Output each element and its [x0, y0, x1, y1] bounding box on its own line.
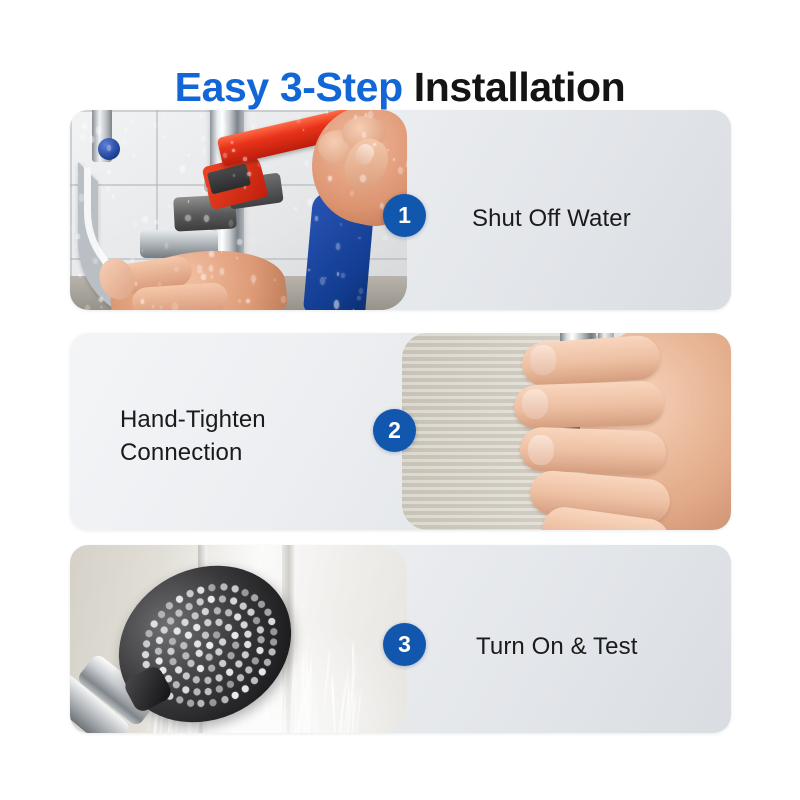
fingernail-3: [528, 435, 554, 465]
step-card-3: 3 Turn On & Test: [70, 545, 731, 733]
step-2-label-line-1: Hand-Tighten: [120, 403, 350, 436]
step-badge-3: 3: [383, 623, 426, 666]
page-title-rest: Installation: [403, 64, 626, 110]
page-title: Easy 3-Step Installation: [0, 65, 800, 110]
step-badge-3-number: 3: [398, 633, 411, 656]
step-1-image: [70, 110, 407, 310]
step-badge-1: 1: [383, 194, 426, 237]
fingernail-1: [530, 345, 556, 375]
step-card-2: Hand-Tighten Connection 2: [70, 333, 731, 530]
step-2-label-line-2: Connection: [120, 436, 350, 469]
step-badge-1-number: 1: [398, 204, 411, 227]
step-badge-2: 2: [373, 409, 416, 452]
step-2-label: Hand-Tighten Connection: [120, 403, 350, 469]
installation-steps-infographic: Easy 3-Step Installation: [0, 0, 800, 800]
fingernail-2: [522, 389, 548, 419]
step-badge-2-number: 2: [388, 419, 401, 442]
step-3-label: Turn On & Test: [476, 630, 637, 663]
water-droplets: [70, 110, 407, 310]
step-card-1: 1 Shut Off Water: [70, 110, 731, 310]
step-1-label: Shut Off Water: [472, 202, 631, 235]
step-3-image: [70, 545, 407, 733]
page-title-highlight: Easy 3-Step: [175, 64, 403, 110]
step-2-image: [402, 333, 731, 530]
